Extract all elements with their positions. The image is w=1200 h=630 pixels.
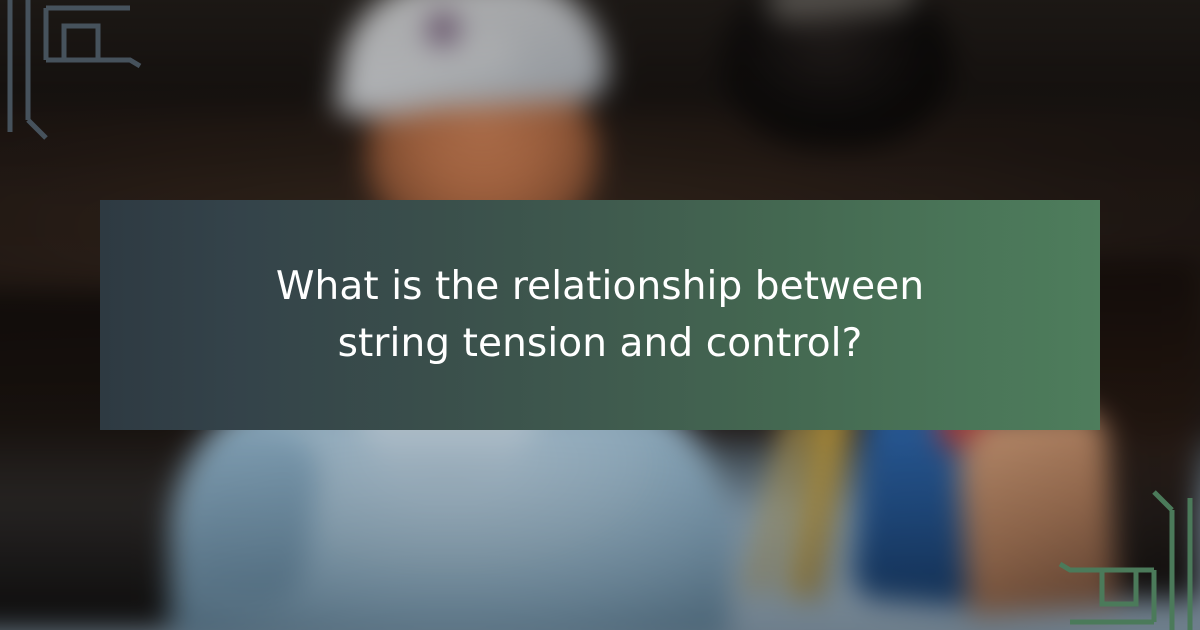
share-card: What is the relationship between string … — [0, 0, 1200, 630]
question-banner: What is the relationship between string … — [100, 200, 1100, 430]
question-text: What is the relationship between string … — [250, 258, 950, 372]
